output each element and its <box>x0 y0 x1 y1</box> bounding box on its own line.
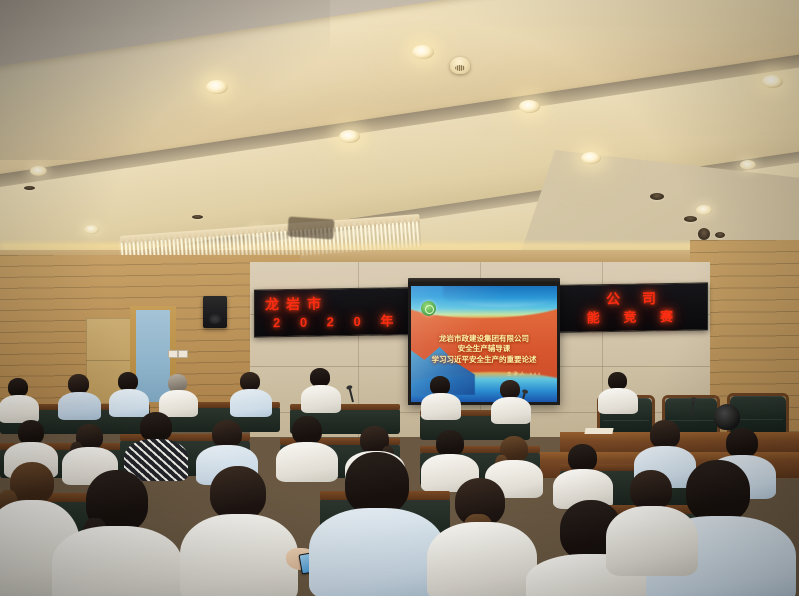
head <box>345 452 409 514</box>
head <box>68 374 89 394</box>
ceiling-downlight <box>30 166 47 176</box>
torso <box>0 395 39 423</box>
ceiling-downlight <box>740 160 756 170</box>
torso <box>230 389 272 417</box>
door-panel[interactable] <box>136 310 170 402</box>
torso <box>491 397 531 424</box>
recessed-fixture-unlit <box>650 193 664 200</box>
torso <box>159 390 198 417</box>
head <box>630 470 672 510</box>
torso <box>427 522 537 596</box>
torso <box>276 442 338 482</box>
ceiling-downlight <box>339 130 360 143</box>
ceiling-downlight <box>206 80 228 94</box>
led-left-line-2: 2 0 2 0 年 <box>273 310 401 331</box>
chair-seam <box>733 419 782 420</box>
conference-hall-photo: 龙岩市 2 0 2 0 年 公 司 能 竞 赛 龙岩市政建设集团有限公司 安全生… <box>0 0 799 596</box>
wall-speaker-icon <box>203 296 227 328</box>
recessed-fixture-unlit <box>24 186 35 190</box>
chandelier-mount-shadow <box>287 216 334 239</box>
recessed-fixture-unlit <box>715 232 725 238</box>
desk-papers <box>584 428 613 434</box>
head <box>650 420 680 449</box>
chair-seam <box>603 420 649 421</box>
torso <box>180 514 298 596</box>
ceiling-downlight <box>519 100 540 113</box>
recessed-fixture-unlit <box>684 216 697 222</box>
ceiling-downlight <box>84 225 99 234</box>
ceiling-downlight <box>762 75 783 88</box>
led-right-line-2: 能 竞 赛 <box>587 306 683 327</box>
head <box>686 460 750 522</box>
ceiling-shadow <box>0 0 330 160</box>
torso <box>109 389 149 417</box>
chair-seam <box>668 420 714 421</box>
recessed-fixture-unlit <box>698 228 710 240</box>
ceiling-downlight <box>412 45 434 59</box>
power-outlet-plate[interactable] <box>178 350 188 358</box>
torso <box>606 506 698 576</box>
torso <box>309 508 445 596</box>
torso <box>58 392 101 420</box>
head <box>568 444 597 472</box>
power-outlet-plate[interactable] <box>168 350 178 358</box>
head <box>436 430 464 457</box>
head <box>726 428 758 458</box>
recessed-fixture-unlit <box>192 215 203 219</box>
head <box>210 466 266 520</box>
smoke-detector-icon <box>450 57 470 74</box>
ceiling-downlight <box>581 152 601 164</box>
desk-object <box>714 404 740 430</box>
torso <box>52 526 182 596</box>
head <box>292 416 322 445</box>
torso <box>301 385 341 413</box>
torso <box>421 393 461 420</box>
torso <box>598 388 638 414</box>
head <box>140 412 172 442</box>
ceiling-downlight <box>696 205 712 215</box>
head <box>212 420 242 448</box>
